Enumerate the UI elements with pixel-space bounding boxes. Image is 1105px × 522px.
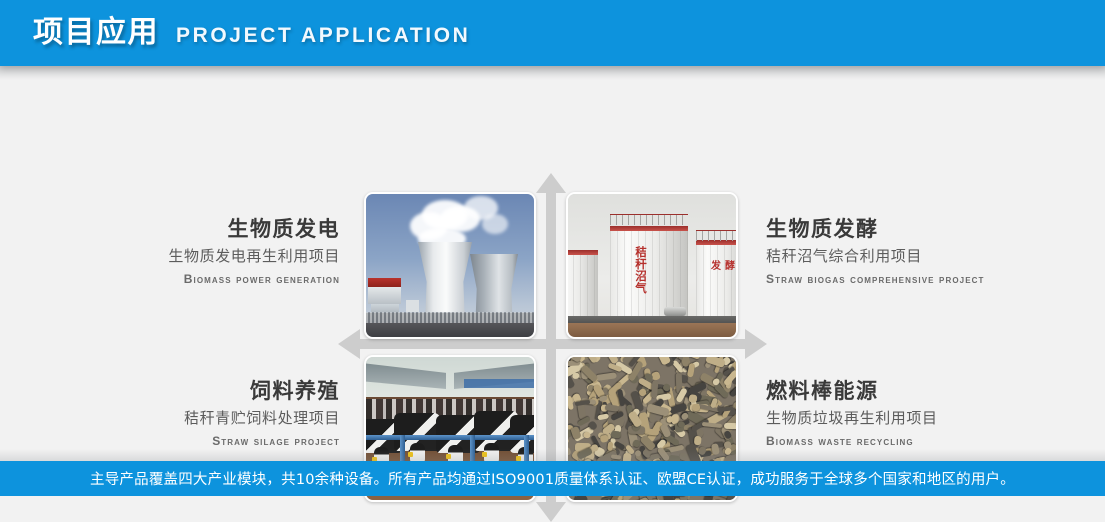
steam-plume (482, 214, 508, 234)
photo-power-plant-cooling-towers[interactable] (364, 192, 536, 339)
cow-ear-tag (446, 454, 451, 459)
quadrant-title-cn: 生物质发电 (10, 216, 340, 242)
quadrant-title-cn: 饲料养殖 (10, 378, 340, 404)
cow-ear-tag (408, 452, 413, 457)
page-header: 项目应用 PROJECT APPLICATION (0, 0, 1105, 66)
ground-dirt (568, 323, 736, 337)
page-title-cn: 项目应用 (33, 18, 159, 48)
tank-rim-main (610, 226, 688, 231)
plant-ground-structures (366, 312, 534, 323)
quadrant-title-cn: 生物质发酵 (766, 216, 1096, 242)
tank-outlet-pipe (664, 307, 686, 316)
plant-building-small (406, 300, 419, 312)
header-title-group: 项目应用 PROJECT APPLICATION (0, 18, 470, 48)
page-title-en: PROJECT APPLICATION (176, 25, 470, 46)
tank-label-right: 发酵 (708, 262, 736, 273)
tank-railing-main (610, 214, 688, 225)
quadrant-text-bottom-left: 饲料养殖 秸秆青贮饲料处理项目 Straw silage project (10, 378, 340, 449)
plant-building-white (368, 287, 401, 304)
fuel-pellet (692, 404, 700, 411)
tank-rim-left (568, 250, 598, 255)
photo-biogas-storage-tanks[interactable]: 秸秆沼气 发酵 (566, 192, 738, 339)
tank-label-main: 秸秆沼气 (630, 246, 652, 294)
quadrant-subtitle-cn: 生物质垃圾再生利用项目 (766, 409, 1096, 429)
quadrant-text-top-left: 生物质发电 生物质发电再生利用项目 Biomass power generati… (10, 216, 340, 287)
quadrant-title-cn: 燃料棒能源 (766, 378, 1096, 404)
quadrant-subtitle-cn: 秸秆青贮饲料处理项目 (10, 409, 340, 429)
quadrant-text-bottom-right: 燃料棒能源 生物质垃圾再生利用项目 Biomass waste recyclin… (766, 378, 1096, 449)
fuel-pellet (724, 422, 736, 428)
quadrant-subtitle-en: Straw biogas comprehensive project (766, 272, 1096, 288)
tank-railing-right (696, 230, 736, 241)
quadrant-text-top-right: 生物质发酵 秸秆沼气综合利用项目 Straw biogas comprehens… (766, 216, 1096, 287)
fence-rail-top (366, 435, 534, 440)
quadrant-stage: 秸秆沼气 发酵 (0, 66, 1105, 455)
plant-building-red-roof (368, 278, 401, 287)
fuel-pellet (611, 430, 621, 437)
fuel-pellet (651, 380, 658, 398)
quadrant-subtitle-en: Straw silage project (10, 434, 340, 450)
cow-ear-tag (482, 452, 487, 457)
quadrant-subtitle-cn: 生物质发电再生利用项目 (10, 247, 340, 267)
barn-roof-blue-panel (464, 379, 534, 388)
footer-text: 主导产品覆盖四大产业模块，共10余种设备。所有产品均通过ISO9001质量体系认… (90, 468, 1015, 489)
page-footer: 主导产品覆盖四大产业模块，共10余种设备。所有产品均通过ISO9001质量体系认… (0, 461, 1105, 496)
fuel-pellet (689, 394, 698, 403)
quadrant-subtitle-en: Biomass power generation (10, 272, 340, 288)
quadrant-subtitle-cn: 秸秆沼气综合利用项目 (766, 247, 1096, 267)
quadrant-subtitle-en: Biomass waste recycling (766, 434, 1096, 450)
